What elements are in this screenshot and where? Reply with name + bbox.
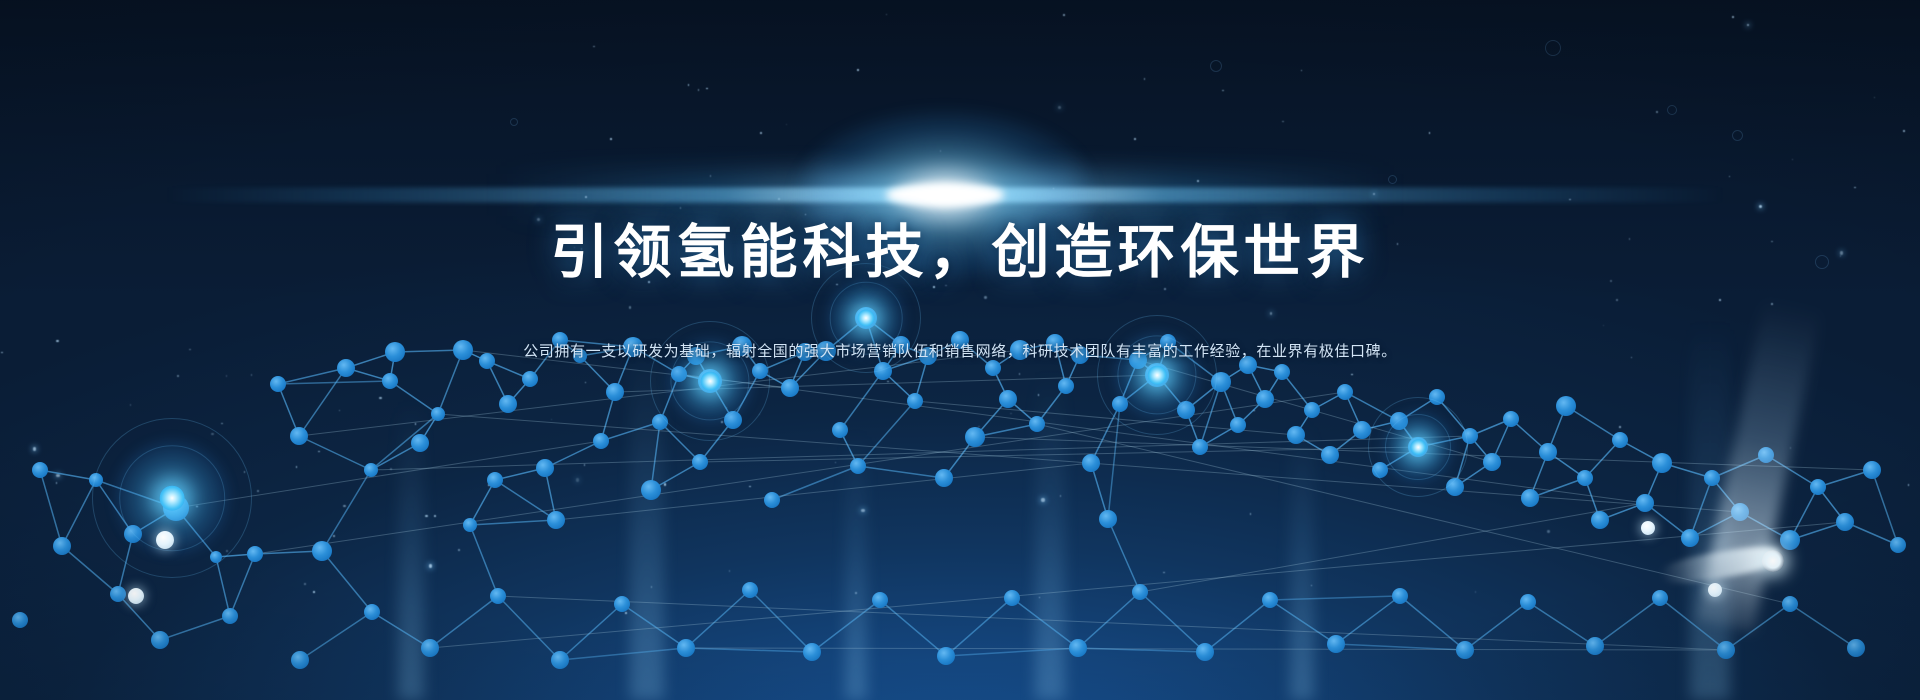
hero-banner: 引领氢能科技，创造环保世界 公司拥有一支以研发为基础，辐射全国的强大市场营销队伍…: [0, 0, 1920, 700]
background-vignette: [0, 0, 1920, 700]
